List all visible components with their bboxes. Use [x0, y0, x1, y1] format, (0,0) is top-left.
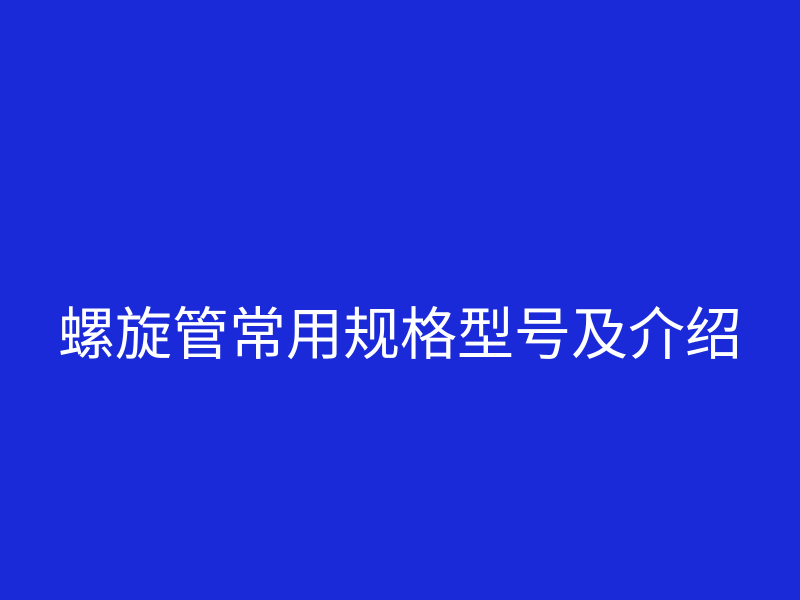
title-card: 螺旋管常用规格型号及介绍 — [0, 0, 800, 600]
page-title: 螺旋管常用规格型号及介绍 — [0, 302, 800, 368]
